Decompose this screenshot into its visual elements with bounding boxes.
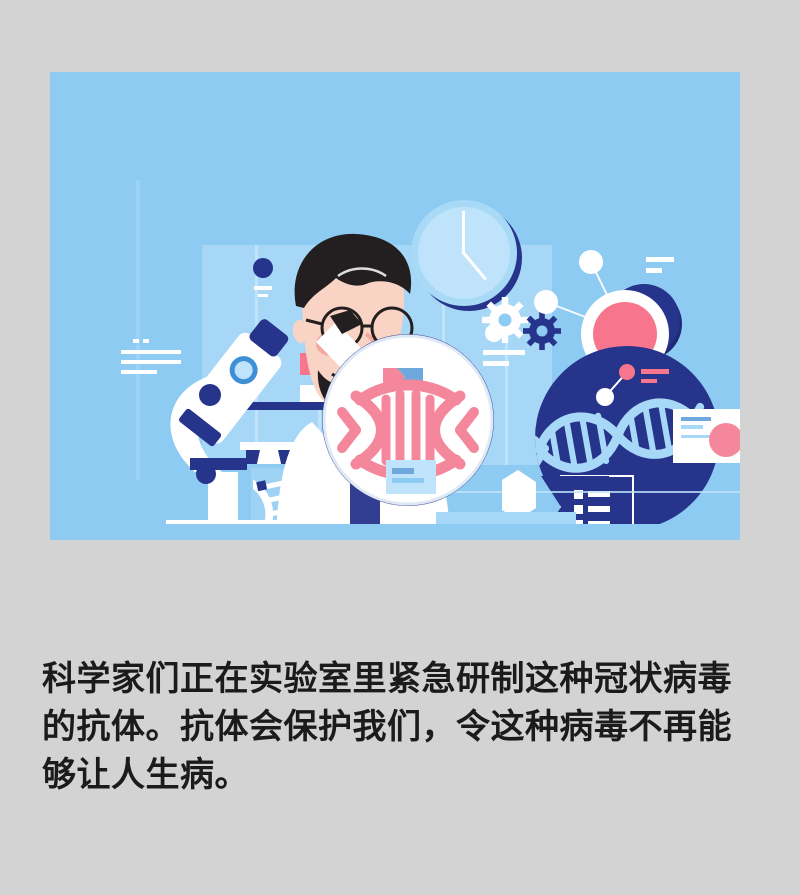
wall-line-left xyxy=(136,180,140,480)
gear-small xyxy=(523,312,561,350)
molecule-node xyxy=(579,250,603,274)
illustration-panel xyxy=(50,72,740,540)
data-card xyxy=(673,409,740,463)
foreground-band xyxy=(50,524,740,540)
molecule-node xyxy=(534,290,558,314)
small-blue-card xyxy=(386,460,436,494)
page-root: 科学家们正在实验室里紧急研制这种冠状病毒的抗体。抗体会保护我们，令这种病毒不再能… xyxy=(0,0,800,895)
caption-block: 科学家们正在实验室里紧急研制这种冠状病毒的抗体。抗体会保护我们，令这种病毒不再能… xyxy=(42,655,742,799)
clock-hand-hour xyxy=(462,218,465,254)
caption-paragraph: 科学家们正在实验室里紧急研制这种冠状病毒的抗体。抗体会保护我们，令这种病毒不再能… xyxy=(42,655,742,799)
laboratory-illustration xyxy=(50,72,740,540)
desk-edge xyxy=(436,512,576,524)
